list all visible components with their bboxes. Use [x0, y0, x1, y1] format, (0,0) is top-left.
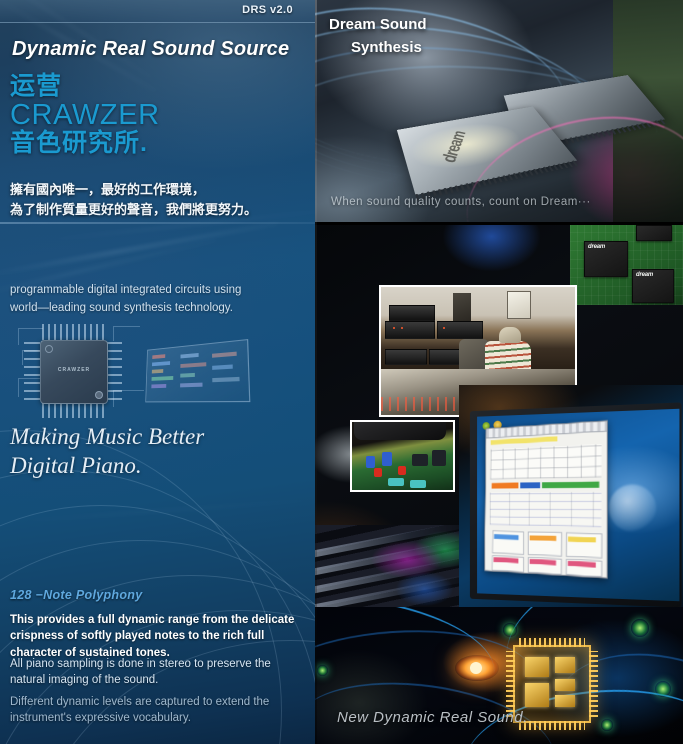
hero-title-line-2: Synthesis: [329, 37, 427, 60]
polyphony-paragraph-2: All piano sampling is done in stereo to …: [10, 656, 300, 689]
desktop-logo-icon: [609, 484, 656, 532]
monitor-software-photo: [459, 385, 683, 607]
board-capacitor: [366, 456, 375, 468]
page-title: Dynamic Real Sound Source: [12, 38, 289, 61]
monitor-screen: [477, 409, 679, 601]
pcb-chip: dream: [584, 241, 628, 277]
component-board-photo: [350, 420, 455, 492]
hero-title: Dream Sound Synthesis: [329, 14, 427, 59]
polyphony-paragraph-1: This provides a full dynamic range from …: [10, 612, 306, 661]
technology-paragraph: programmable digital integrated circuits…: [10, 282, 241, 318]
pcb-chip-label: dream: [588, 244, 605, 250]
studio-rack-unit: [389, 305, 435, 321]
chip-legs: [519, 638, 585, 647]
pcb-layout-ghost: [145, 339, 250, 402]
neuron-soma: [455, 655, 499, 681]
board-trimmer: [410, 480, 426, 488]
window-titlebar: [486, 421, 606, 438]
board-trimmer: [388, 478, 404, 486]
technology-line-2: world—leading sound synthesis technology…: [10, 300, 241, 318]
board-resistor: [398, 466, 406, 475]
brand-chinese-bottom: 音色研究所.: [10, 131, 160, 157]
neural-network-image: New Dynamic Real Sound.: [315, 607, 683, 744]
chinese-paragraph: 擁有國內唯一，最好的工作環境， 為了制作質量更好的聲音，我們將更努力。: [10, 180, 257, 220]
chip-corner-dot: [95, 391, 103, 399]
editor-module-accent: [530, 535, 556, 541]
light-streak-decoration: [0, 498, 315, 524]
brand-block: 运营 CRAWZER 音色研究所.: [10, 74, 160, 157]
synapse-node: [317, 665, 328, 676]
chip-die-segment: [555, 657, 575, 673]
studio-wall-panel: [507, 291, 531, 319]
polyphony-heading: 128 −Note Polyphony: [10, 588, 142, 602]
hero-title-line-1: Dream Sound: [329, 16, 427, 33]
photo-collage: dream dream: [315, 225, 683, 607]
chip-brand-text: dream: [438, 131, 471, 164]
right-panel: dream Dream Sound Synthesis When sound q…: [315, 0, 683, 744]
chip-silkscreen-label: CRAWZER: [41, 367, 107, 373]
studio-rack-unit: [385, 349, 427, 365]
poster-canvas: DRS v2.0 Dynamic Real Sound Source 运营 CR…: [0, 0, 683, 744]
level-bar-blue: [520, 482, 540, 488]
board-ic: [412, 454, 428, 466]
parameter-table: [490, 492, 602, 527]
dream-hero-image: dream Dream Sound Synthesis When sound q…: [315, 0, 683, 222]
divider: [0, 222, 315, 224]
hero-tagline: When sound quality counts, count on Drea…: [331, 196, 591, 208]
studio-rack-unit: [385, 321, 435, 339]
pcb-macro-photo: dream dream: [570, 225, 683, 305]
slogan: Making Music Better Digital Piano.: [10, 422, 204, 481]
chip-package-icon: CRAWZER: [40, 340, 108, 404]
synapse-node: [631, 619, 649, 637]
version-label: DRS v2.0: [242, 4, 293, 16]
bench-arm: [354, 422, 446, 440]
slogan-line-2: Digital Piano.: [10, 451, 204, 480]
studio-rack-unit: [437, 321, 483, 339]
chip-pins-top: [40, 324, 106, 340]
brand-chinese-top: 运营: [10, 74, 160, 100]
left-panel: DRS v2.0 Dynamic Real Sound Source 运营 CR…: [0, 0, 315, 744]
editor-module-accent: [494, 534, 519, 540]
footer-caption: New Dynamic Real Sound.: [337, 709, 528, 726]
slogan-line-1: Making Music Better: [10, 422, 204, 451]
chip-pins-left: [24, 340, 40, 402]
pcb-chip: [636, 225, 672, 241]
chip-legs: [589, 651, 598, 717]
chip-pins-bottom: [40, 402, 106, 418]
chip-legs: [506, 651, 515, 717]
level-bar-orange: [492, 483, 518, 489]
circuit-trace-icon: [113, 326, 140, 341]
board-ic: [432, 450, 446, 466]
chip-die-segment: [555, 679, 575, 691]
level-bar-green: [542, 481, 599, 488]
pcb-chip: dream: [632, 269, 674, 303]
chip-legs: [519, 721, 585, 730]
chip-illustration: CRAWZER: [18, 320, 258, 420]
chip-die-segment: [555, 695, 575, 707]
light-streak-decoration: [0, 222, 278, 277]
monitor-bezel: [470, 402, 682, 607]
brand-name: CRAWZER: [10, 101, 160, 131]
synapse-node: [601, 719, 613, 731]
engineer-head: [499, 327, 521, 343]
chip-die-segment: [525, 683, 549, 707]
editor-software-window: [484, 420, 607, 579]
synth-faders-photo: [315, 525, 463, 607]
chinese-paragraph-line-1: 擁有國內唯一，最好的工作環境，: [10, 180, 257, 200]
chip-pins-right: [106, 340, 122, 402]
chip-orientation-dot: [45, 345, 53, 353]
synapse-node: [655, 681, 671, 697]
board-capacitor: [382, 452, 392, 466]
editor-module-accent: [568, 536, 596, 542]
synapse-node: [503, 623, 517, 637]
polyphony-paragraph-3: Different dynamic levels are captured to…: [10, 694, 300, 727]
parameter-grid: [490, 444, 601, 479]
board-resistor: [374, 468, 382, 477]
pcb-chip-label: dream: [636, 272, 653, 278]
technology-line-1: programmable digital integrated circuits…: [10, 282, 241, 300]
chinese-paragraph-line-2: 為了制作質量更好的聲音，我們將更努力。: [10, 200, 257, 220]
chip-die-segment: [525, 657, 549, 677]
